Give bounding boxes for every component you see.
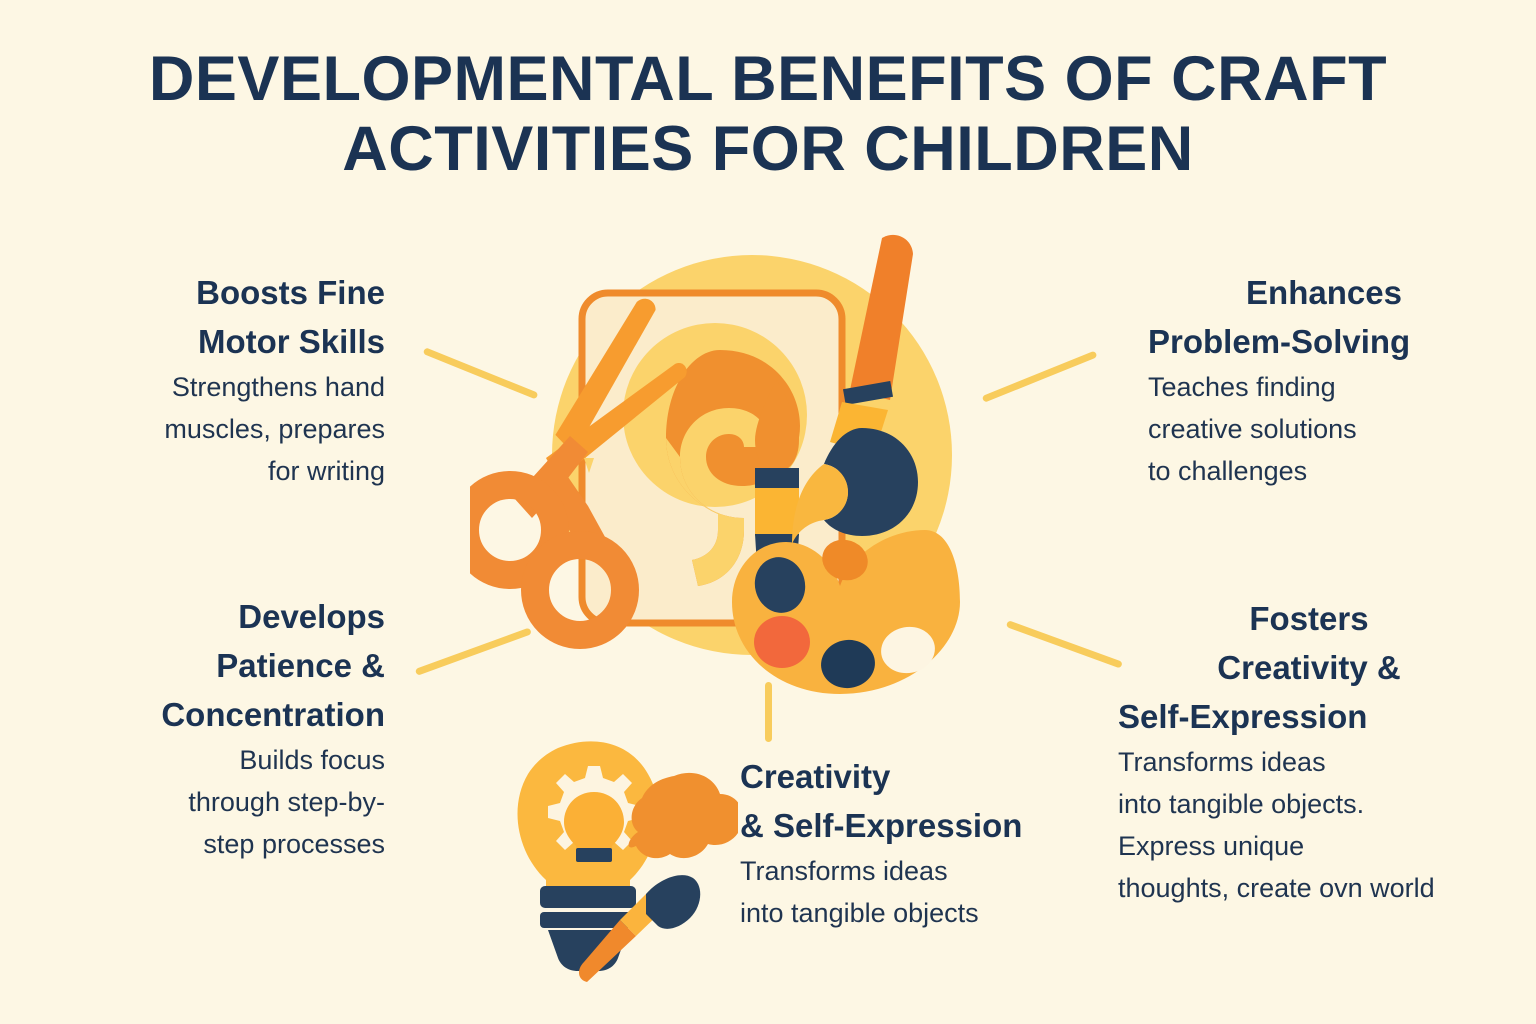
benefit-heading-fosters-line-3: Self-Expression: [1118, 692, 1500, 741]
benefit-heading-fosters-line-1: Fosters: [1118, 594, 1500, 643]
benefit-heading-patience-line-3: Concentration: [40, 690, 385, 739]
benefit-body-fosters-line-3: Express unique: [1118, 825, 1500, 867]
benefit-body-problem: Teaches finding creative solutions to ch…: [1148, 366, 1500, 492]
benefit-heading-motor-line-2: Motor Skills: [40, 317, 385, 366]
benefit-block-problem: Enhances Problem-Solving Teaches finding…: [1148, 268, 1500, 492]
benefit-heading-creativity-line-1: Creativity: [740, 752, 1100, 801]
benefit-body-patience-line-1: Builds focus: [40, 739, 385, 781]
infographic-poster: DEVELOPMENTAL BENEFITS OF CRAFT ACTIVITI…: [0, 0, 1536, 1024]
benefit-body-patience: Builds focus through step-by- step proce…: [40, 739, 385, 865]
benefit-heading-problem-line-1: Enhances: [1148, 268, 1500, 317]
lightbulb-gear-icon: [518, 741, 659, 971]
benefit-block-motor: Boosts Fine Motor Skills Strengthens han…: [40, 268, 385, 492]
benefit-body-motor-line-1: Strengthens hand: [40, 366, 385, 408]
benefit-heading-patience: Develops Patience & Concentration: [40, 592, 385, 739]
benefit-block-fosters: Fosters Creativity & Self-Expression Tra…: [1118, 594, 1500, 909]
benefit-heading-motor-line-1: Boosts Fine: [40, 268, 385, 317]
benefit-body-fosters-line-4: thoughts, create ovn world: [1118, 867, 1500, 909]
benefit-heading-fosters: Fosters Creativity & Self-Expression: [1118, 594, 1500, 741]
benefit-body-fosters: Transforms ideas into tangible objects. …: [1118, 741, 1500, 909]
benefit-heading-patience-line-2: Patience &: [40, 641, 385, 690]
benefit-body-fosters-line-2: into tangible objects.: [1118, 783, 1500, 825]
craft-tools-illustration: [470, 230, 1030, 710]
benefit-body-problem-line-2: creative solutions: [1148, 408, 1500, 450]
benefit-body-motor-line-2: muscles, prepares: [40, 408, 385, 450]
benefit-body-problem-line-3: to challenges: [1148, 450, 1500, 492]
page-title: DEVELOPMENTAL BENEFITS OF CRAFT ACTIVITI…: [0, 44, 1536, 184]
page-title-line-2: ACTIVITIES FOR CHILDREN: [0, 114, 1536, 184]
benefit-heading-patience-line-1: Develops: [40, 592, 385, 641]
benefit-heading-motor: Boosts Fine Motor Skills: [40, 268, 385, 366]
benefit-body-patience-line-3: step processes: [40, 823, 385, 865]
benefit-body-problem-line-1: Teaches finding: [1148, 366, 1500, 408]
benefit-block-creativity: Creativity & Self-Expression Transforms …: [740, 752, 1100, 934]
benefit-body-creativity: Transforms ideas into tangible objects: [740, 850, 1100, 934]
benefit-block-patience: Develops Patience & Concentration Builds…: [40, 592, 385, 865]
benefit-heading-creativity: Creativity & Self-Expression: [740, 752, 1100, 850]
idea-illustration: [488, 736, 738, 986]
benefit-body-fosters-line-1: Transforms ideas: [1118, 741, 1500, 783]
benefit-body-patience-line-2: through step-by-: [40, 781, 385, 823]
benefit-body-motor: Strengthens hand muscles, prepares for w…: [40, 366, 385, 492]
benefit-heading-fosters-line-2: Creativity &: [1118, 643, 1500, 692]
benefit-body-motor-line-3: for writing: [40, 450, 385, 492]
benefit-body-creativity-line-1: Transforms ideas: [740, 850, 1100, 892]
paint-palette: [732, 530, 960, 694]
benefit-body-creativity-line-2: into tangible objects: [740, 892, 1100, 934]
page-title-line-1: DEVELOPMENTAL BENEFITS OF CRAFT: [0, 44, 1536, 114]
benefit-heading-creativity-line-2: & Self-Expression: [740, 801, 1100, 850]
benefit-heading-problem-line-2: Problem-Solving: [1148, 317, 1500, 366]
benefit-heading-problem: Enhances Problem-Solving: [1148, 268, 1500, 366]
